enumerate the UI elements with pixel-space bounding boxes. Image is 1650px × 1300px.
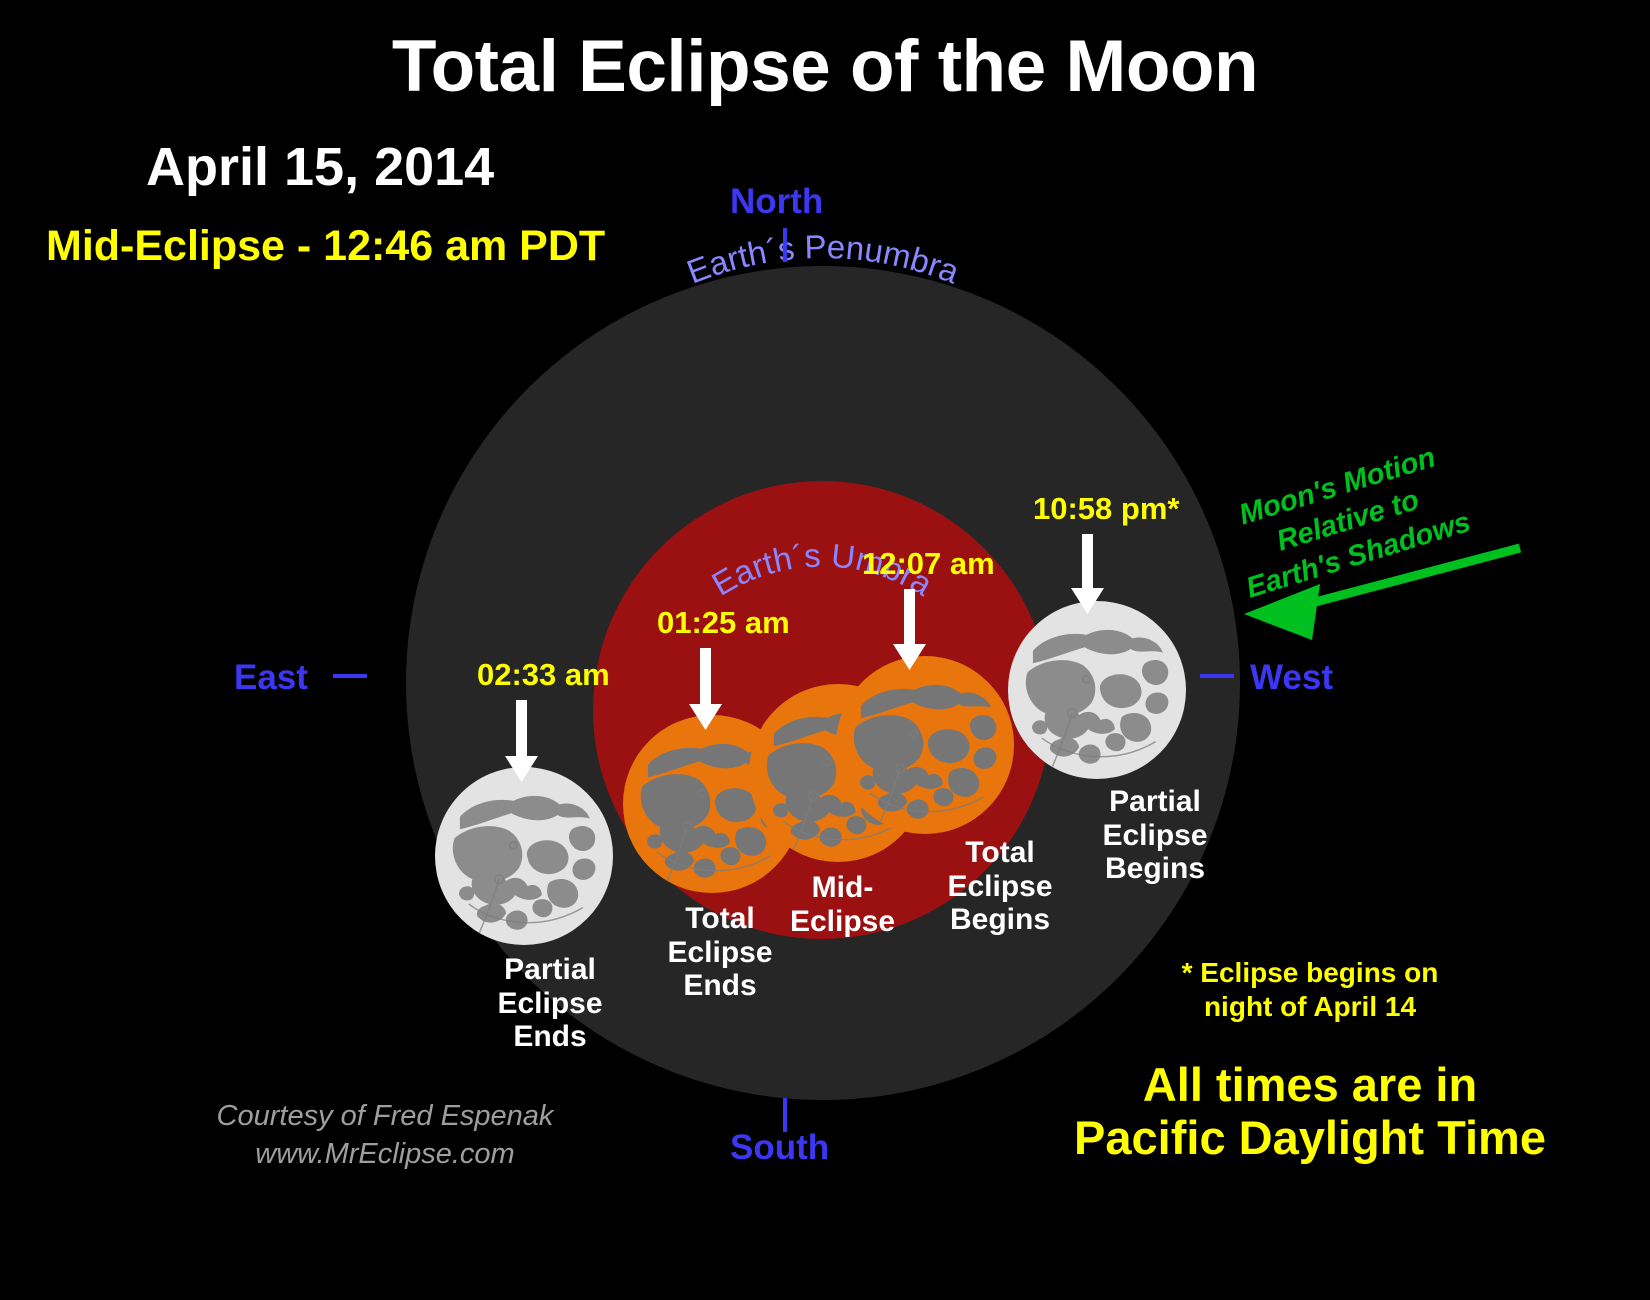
label-partial-eclipse-begins: PartialEclipseBegins xyxy=(1060,785,1250,886)
eclipse-diagram: Earth´s Penumbra Earth´s Umbra xyxy=(0,0,1650,1300)
cardinal-west: West xyxy=(1250,658,1333,697)
time-partial-eclipse-begins: 10:58 pm* xyxy=(1033,492,1179,527)
time-partial-eclipse-ends: 02:33 am xyxy=(477,658,610,693)
cardinal-south: South xyxy=(730,1128,829,1167)
label-total-eclipse-ends: TotalEclipseEnds xyxy=(640,902,800,1003)
label-total-eclipse-begins: TotalEclipseBegins xyxy=(920,836,1080,937)
moon-partial-eclipse-begins xyxy=(1008,601,1186,779)
moon-partial-eclipse-ends xyxy=(435,767,613,945)
moon-motion-label: Moon's Motion Relative to Earth's Shadow… xyxy=(1222,437,1475,604)
footnote-april14: * Eclipse begins onnight of April 14 xyxy=(1120,956,1500,1023)
mid-eclipse-time: Mid-Eclipse - 12:46 am PDT xyxy=(46,222,605,270)
credit-line: Courtesy of Fred Espenakwww.MrEclipse.co… xyxy=(150,1098,620,1173)
label-partial-eclipse-ends: PartialEclipseEnds xyxy=(455,953,645,1054)
moon-total-eclipse-begins xyxy=(836,656,1014,834)
eclipse-date: April 15, 2014 xyxy=(146,137,494,197)
cardinal-north: North xyxy=(730,182,823,221)
cardinal-east: East xyxy=(234,658,308,697)
time-total-eclipse-begins: 12:07 am xyxy=(862,547,995,582)
page-title: Total Eclipse of the Moon xyxy=(0,26,1650,108)
all-times-note: All times are inPacific Daylight Time xyxy=(1000,1059,1620,1164)
time-total-eclipse-ends: 01:25 am xyxy=(657,606,790,641)
